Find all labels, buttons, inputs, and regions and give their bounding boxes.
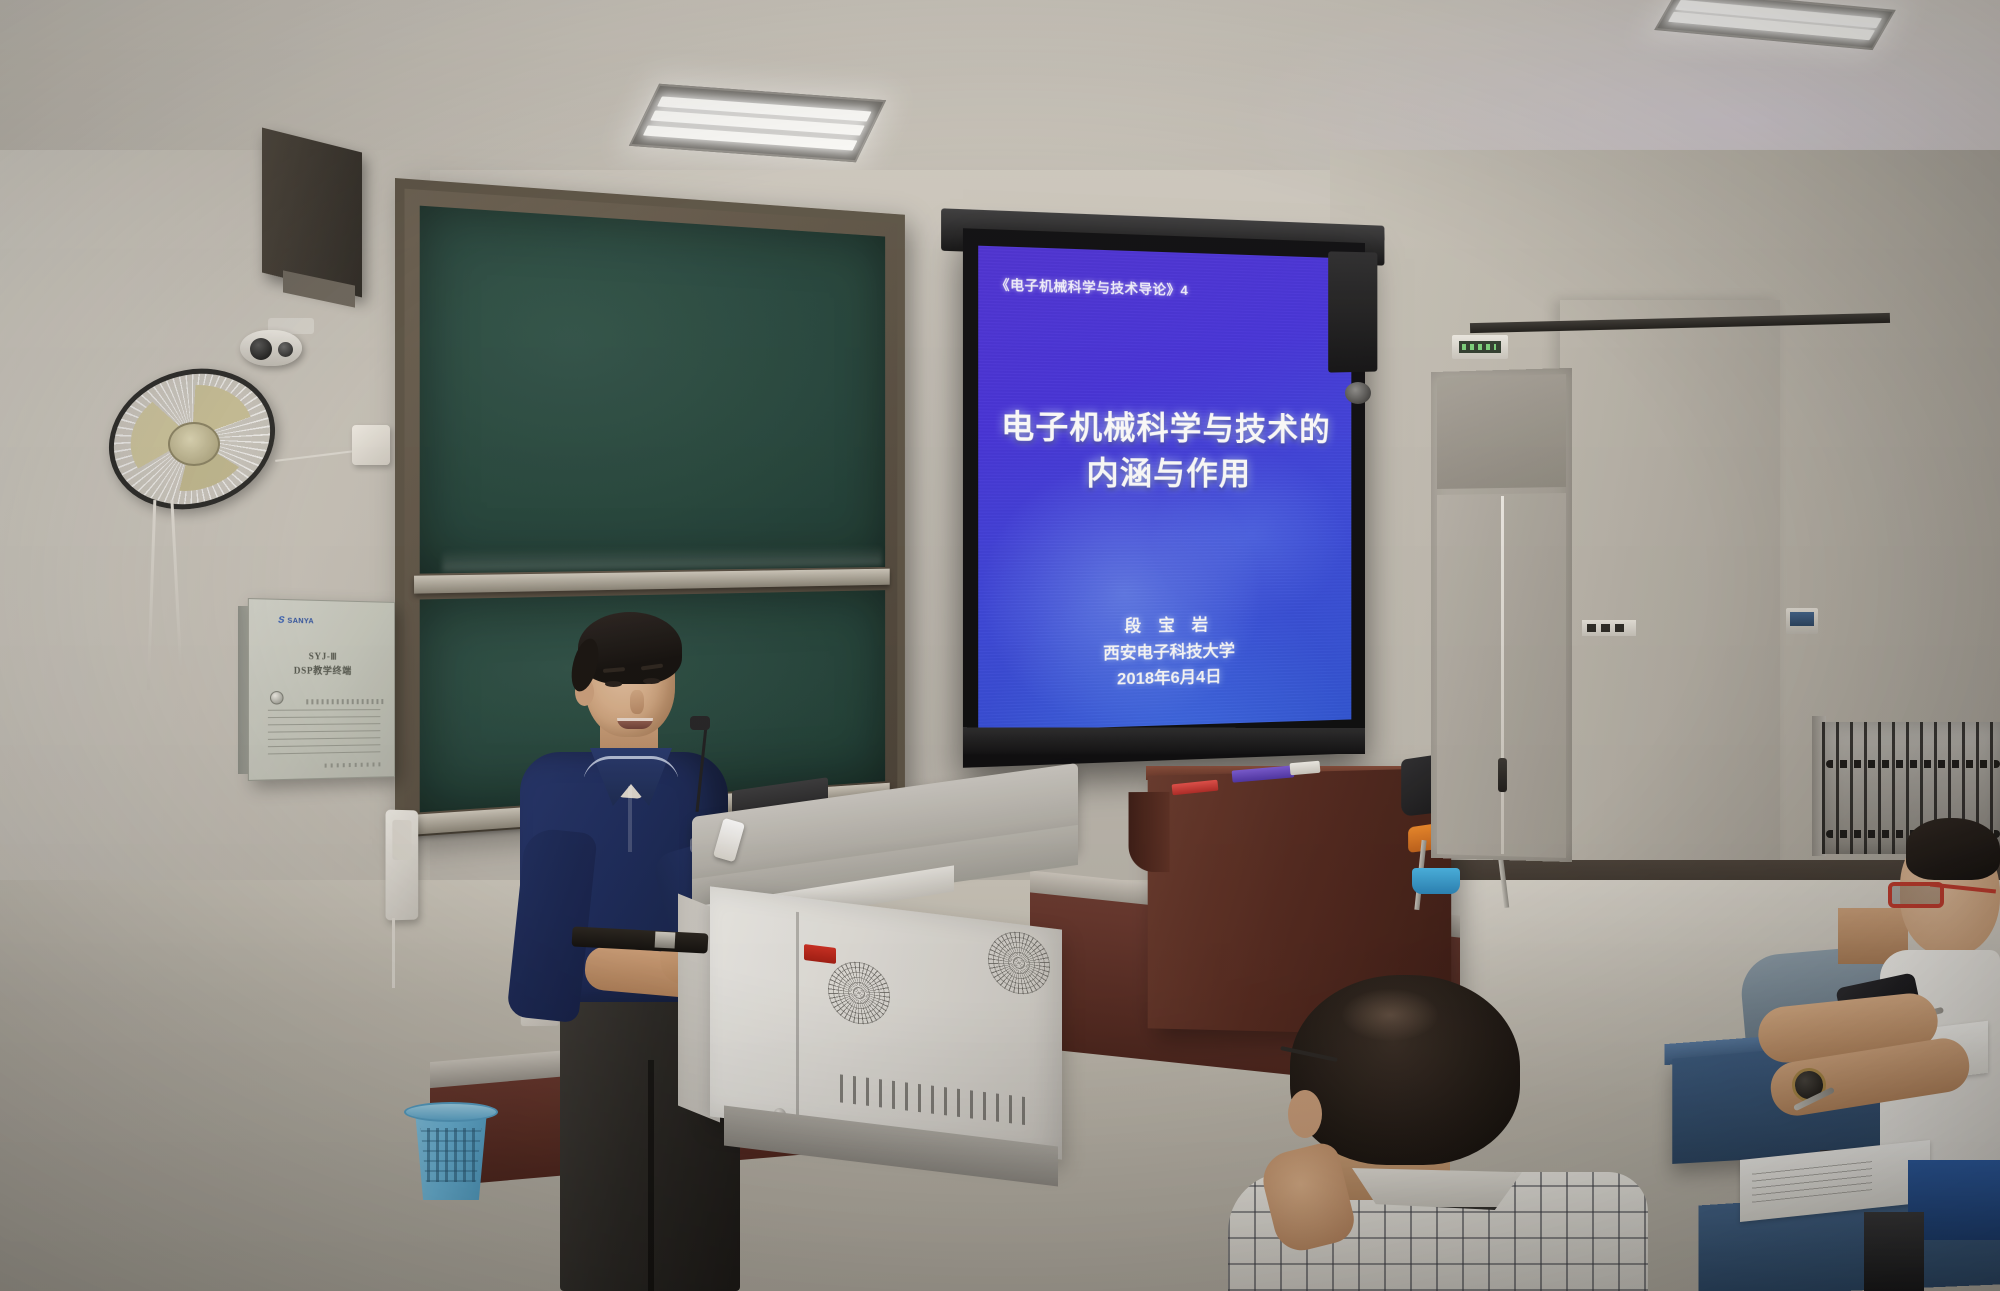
presenter-eye [605,681,622,687]
camera-sensor-icon [278,342,293,357]
camera-lens-icon [250,338,272,360]
dsp-footer-print [325,762,385,767]
classroom-photo: 《电子机械科学与技术导论》4 电子机械科学与技术的 内涵与作用 段 宝 岩 西安… [0,0,2000,1291]
wastebasket-rim [404,1102,498,1122]
wall-column [1560,300,1780,860]
dsp-description-text: DSP教学终端 [249,664,394,679]
brand-mark-icon: S [277,614,286,624]
slide-byline: 段 宝 岩 西安电子科技大学 2018年6月4日 [978,610,1351,697]
dsp-brand-text: SANYA [287,618,314,626]
dsp-teaching-terminal[interactable]: S SANYA SYJ-Ⅲ DSP教学终端 [248,598,395,781]
screen-bottom-bar [963,727,1365,755]
slide-title-line1: 电子机械科学与技术的 [978,404,1351,453]
slide-title-line2: 内涵与作用 [978,451,1351,498]
security-camera-icon [240,330,302,366]
audience-front-ear [1288,1090,1322,1138]
projector-lens-icon [1345,382,1371,404]
blackboard-panel-upper [420,206,885,574]
dsp-lock-knob[interactable] [270,691,284,705]
audience-front-head [1290,975,1520,1165]
presenter-eye [643,678,660,684]
podium-door-seam [796,912,799,1134]
blue-basin [1412,868,1460,894]
projector-speaker-mount [1328,251,1377,372]
presenter-hair [578,612,682,684]
wall-switch-box[interactable] [352,425,390,465]
wall-speaker [262,128,362,298]
presenter-shirt-placket [628,786,632,852]
dsp-vent-slots [268,706,380,754]
audience-front-collar [1352,1168,1522,1210]
door-center-gap [1501,496,1504,854]
projection-screen: 《电子机械科学与技术导论》4 电子机械科学与技术的 内涵与作用 段 宝 岩 西安… [963,228,1365,768]
presenter-nose [630,690,644,714]
wall-telephone[interactable] [386,810,419,921]
telephone-cord [392,918,395,988]
slide-title: 电子机械科学与技术的 内涵与作用 [978,404,1351,497]
classroom-door[interactable] [1431,368,1572,862]
presenter-belt-buckle [655,931,676,948]
wooden-lectern-side [1129,792,1170,872]
dsp-model-label: SYJ-Ⅲ DSP教学终端 [249,649,394,679]
dsp-fine-print [306,699,384,704]
dsp-brand-label: S SANYA [278,614,314,625]
presenter-trouser-seam [648,1060,654,1291]
screen-border: 《电子机械科学与技术导论》4 电子机械科学与技术的 内涵与作用 段 宝 岩 西安… [963,228,1365,768]
door-handle-icon[interactable] [1498,758,1507,792]
teaching-console-podium[interactable] [700,790,1070,1190]
audience-right-hair [1906,818,2000,880]
wall-fan[interactable] [108,370,276,508]
radiator-fin-dots [1826,760,2000,768]
wall-mounted-panel [1786,608,1818,634]
fan-hub-icon [168,422,220,466]
podium-microphone-head [690,716,710,730]
slide-header-text: 《电子机械科学与技术导论》4 [996,274,1189,299]
door-display-sign [1452,335,1508,359]
wastebasket-perforations [418,1128,484,1182]
desk-support [1864,1212,1924,1291]
dsp-model-text: SYJ-Ⅲ [249,649,394,665]
door-transom-panel [1437,374,1566,489]
wall-power-socket[interactable] [1582,620,1636,636]
presenter-mouth [617,718,653,729]
ceiling-light-fixture [629,84,886,162]
presentation-slide: 《电子机械科学与技术导论》4 电子机械科学与技术的 内涵与作用 段 宝 岩 西安… [978,246,1351,732]
